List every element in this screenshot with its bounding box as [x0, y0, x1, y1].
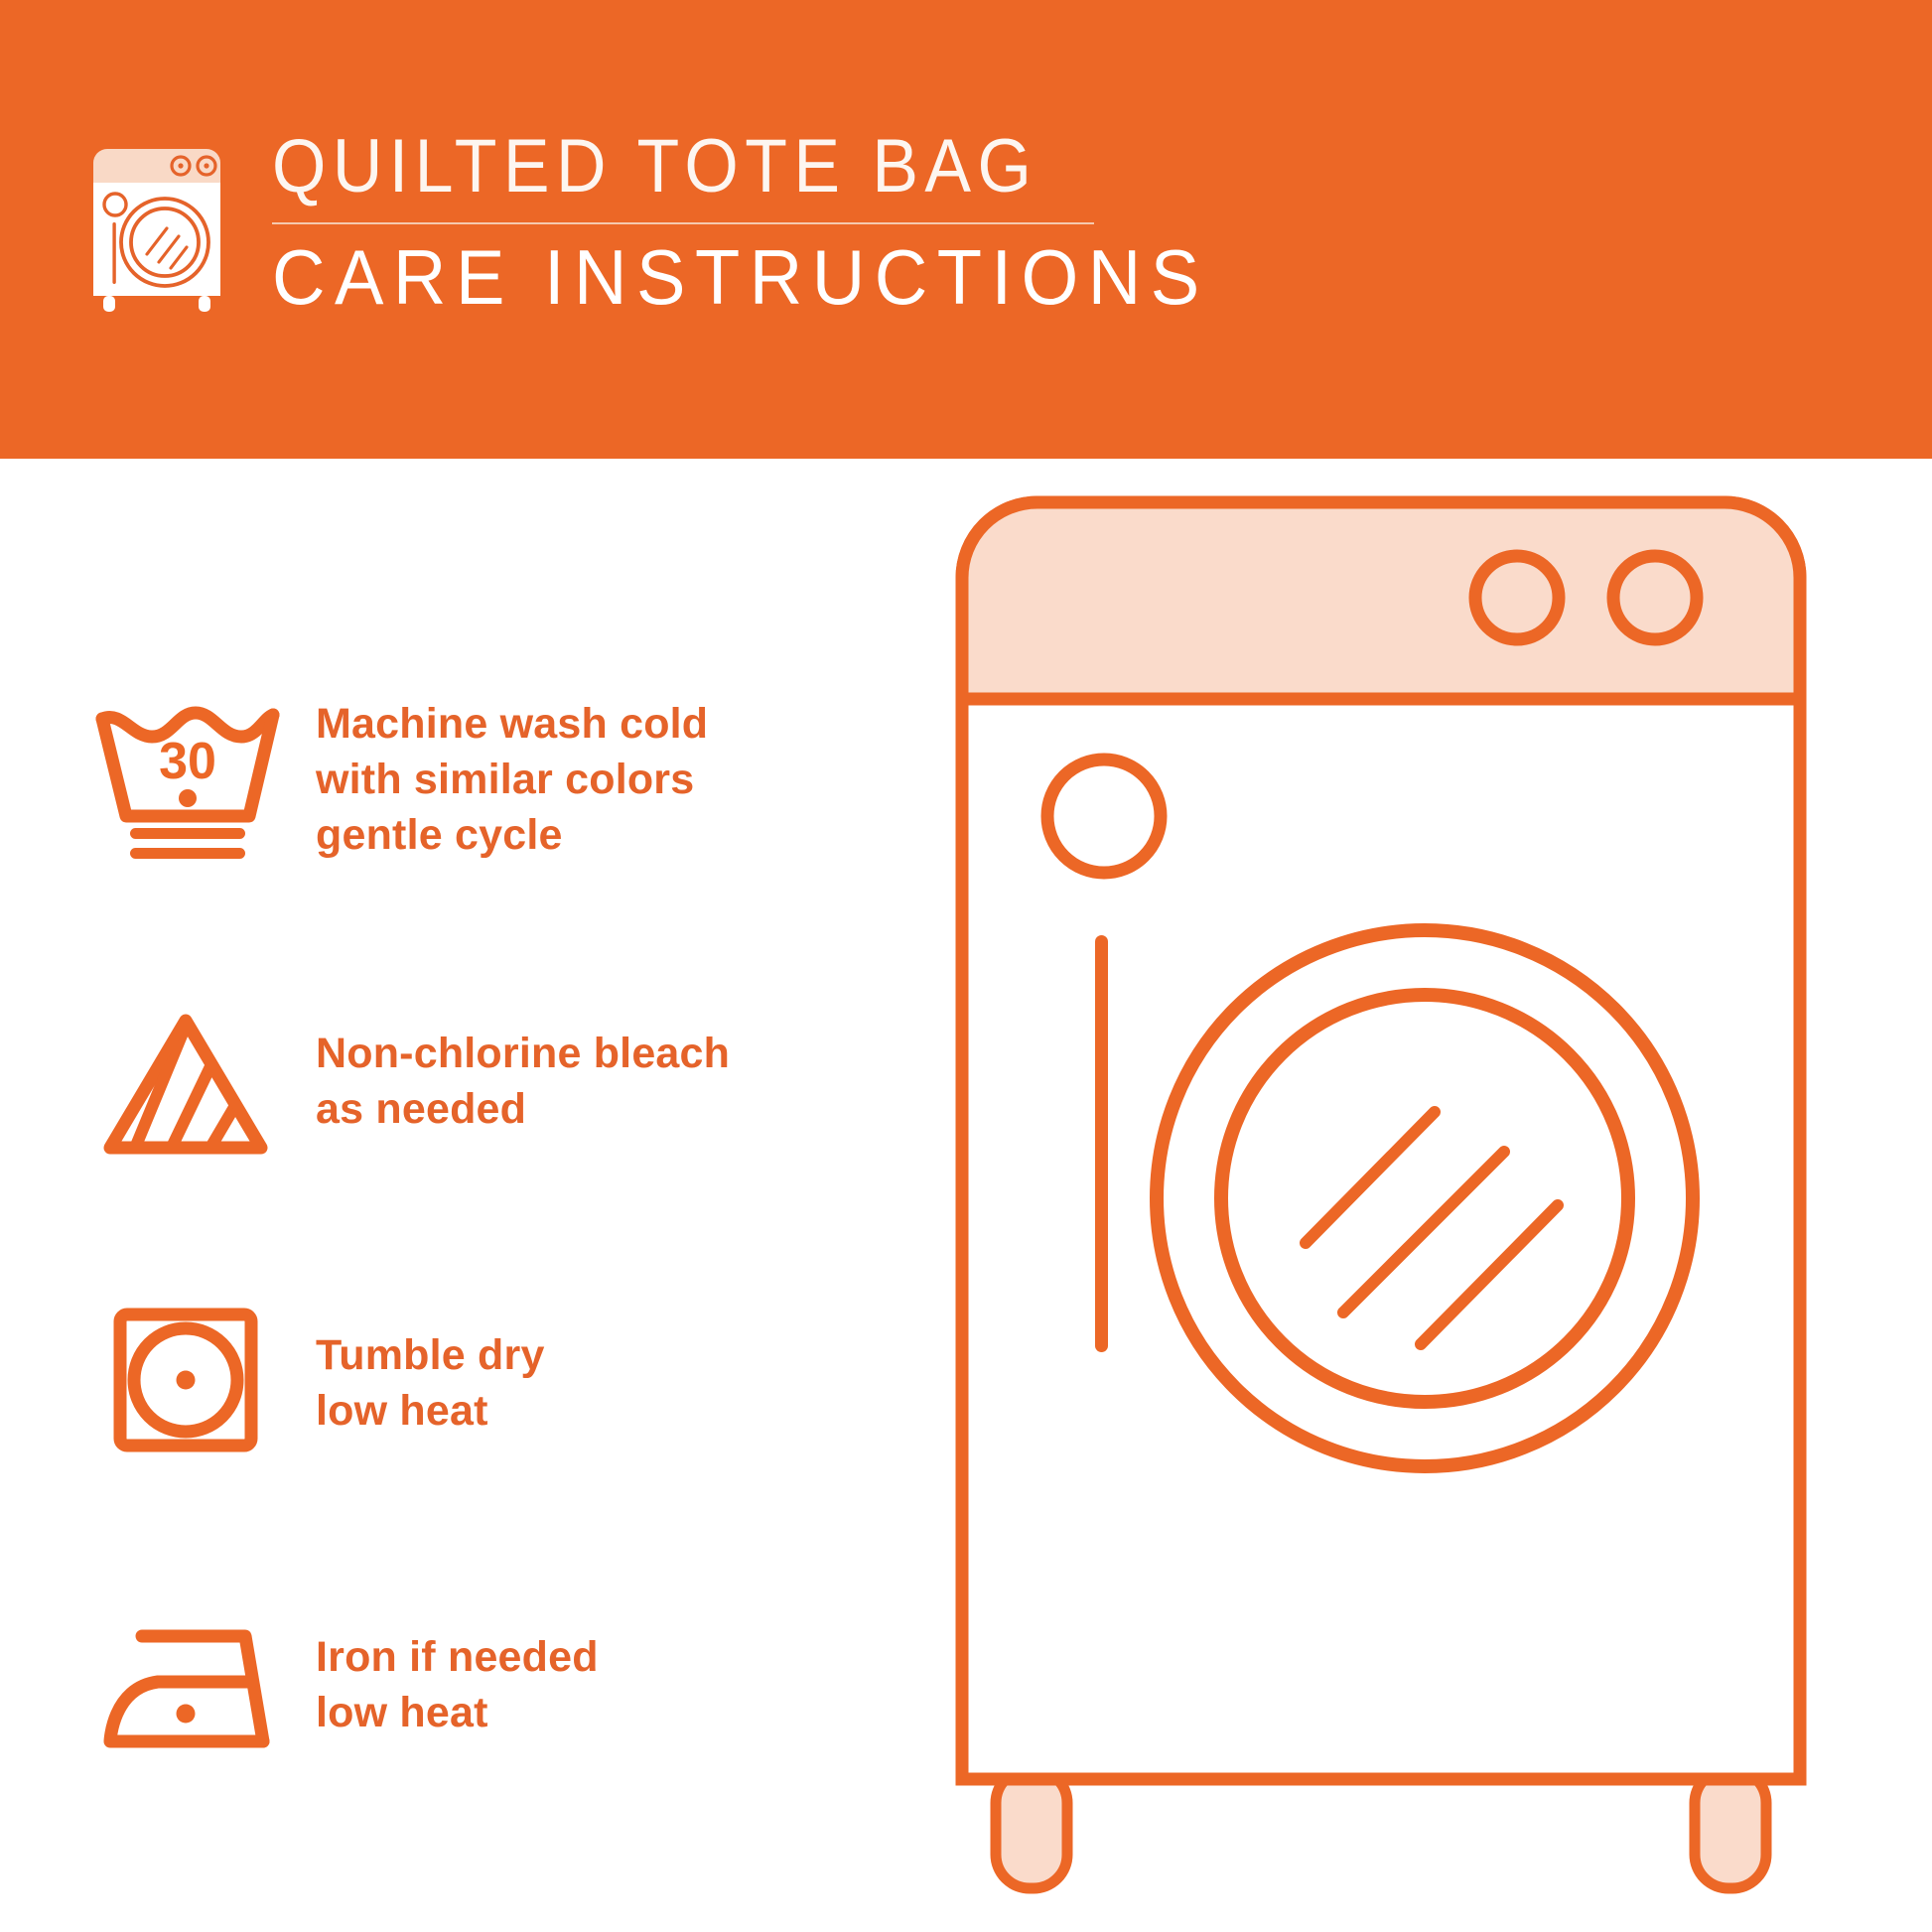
care-label-line: low heat — [316, 1686, 599, 1741]
care-label: Iron if needed low heat — [316, 1630, 599, 1741]
care-label: Tumble dry low heat — [316, 1328, 545, 1440]
care-row: Iron if needed low heat — [81, 1573, 955, 1799]
non-chlorine-bleach-triangle-icon — [81, 999, 290, 1166]
title-block: QUILTED TOTE BAG CARE INSTRUCTIONS — [272, 127, 1258, 316]
care-label-line: Non-chlorine bleach — [316, 1027, 730, 1082]
care-row: 30 Machine wash cold with similar colors… — [81, 667, 955, 894]
care-label-line: with similar colors — [316, 753, 708, 808]
content-area: 30 Machine wash cold with similar colors… — [0, 459, 1932, 1932]
page-title-secondary: CARE INSTRUCTIONS — [272, 238, 1209, 316]
care-row: Tumble dry low heat — [81, 1271, 955, 1497]
washing-machine-icon — [77, 139, 236, 316]
tumble-dry-low-heat-icon — [81, 1301, 290, 1467]
large-washing-machine-illustration — [948, 488, 1871, 1908]
title-divider — [272, 222, 1094, 224]
header-banner: QUILTED TOTE BAG CARE INSTRUCTIONS — [0, 0, 1932, 459]
page-title-primary: QUILTED TOTE BAG — [272, 129, 1179, 205]
care-label-line: Iron if needed — [316, 1630, 599, 1686]
care-label-line: as needed — [316, 1082, 730, 1138]
care-row: Non-chlorine bleach as needed — [81, 969, 955, 1195]
knob-left — [1475, 556, 1559, 639]
foot-right — [1695, 1769, 1766, 1888]
header-content: QUILTED TOTE BAG CARE INSTRUCTIONS — [77, 127, 1258, 316]
care-label-line: Machine wash cold — [316, 697, 708, 753]
care-label: Non-chlorine bleach as needed — [316, 1027, 730, 1138]
care-label: Machine wash cold with similar colors ge… — [316, 697, 708, 864]
vertical-slot — [1095, 935, 1108, 1352]
svg-text:30: 30 — [159, 733, 216, 790]
care-instruction-list: 30 Machine wash cold with similar colors… — [81, 667, 955, 1799]
care-label-line: Tumble dry — [316, 1328, 545, 1384]
wash-tub-30-gentle-icon: 30 — [81, 697, 290, 864]
care-label-line: low heat — [316, 1384, 545, 1440]
care-label-line: gentle cycle — [316, 808, 708, 864]
small-dial — [1047, 759, 1161, 873]
knob-right — [1613, 556, 1697, 639]
foot-left — [996, 1769, 1067, 1888]
iron-low-heat-icon — [81, 1602, 290, 1769]
